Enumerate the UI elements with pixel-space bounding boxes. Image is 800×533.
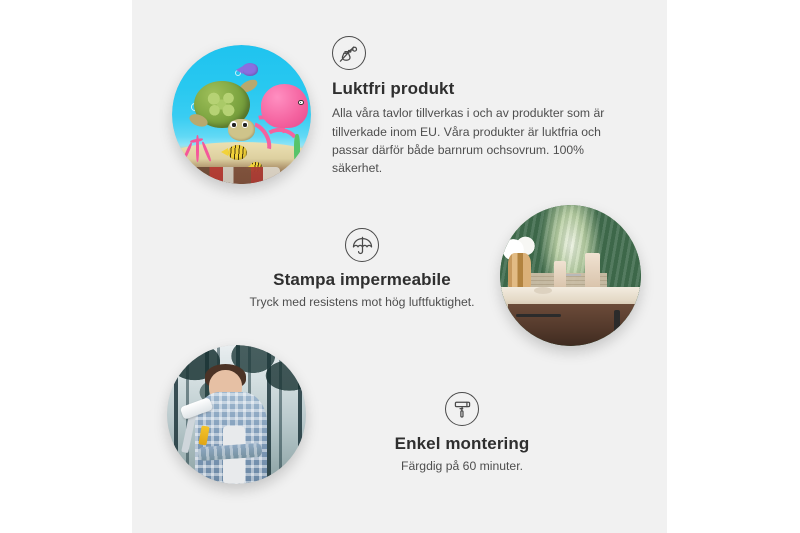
shipwreck-strip	[194, 167, 280, 184]
feature-body: Tryck med resistens mot hög luftfuktighe…	[192, 293, 532, 311]
bottle-icon	[585, 253, 601, 290]
feature-body: Alla våra tavlor tillverkas i och av pro…	[332, 104, 632, 177]
woman-with-paint-roller-photo	[167, 345, 306, 484]
content-panel: Luktfri produkt Alla våra tavlor tillver…	[132, 0, 667, 533]
octopus-icon	[261, 84, 308, 128]
feature-waterproof: Stampa impermeabile Tryck med resistens …	[192, 228, 532, 312]
seaweed-icon	[294, 134, 300, 165]
octopus-eye	[298, 100, 304, 106]
feature-title: Stampa impermeabile	[192, 269, 532, 290]
feature-title: Enkel montering	[312, 433, 612, 454]
fish-icon	[242, 63, 259, 76]
umbrella-icon	[345, 228, 379, 262]
soap-dish-icon	[534, 287, 552, 294]
bottle-icon	[554, 261, 567, 289]
no-fragrance-icon	[332, 36, 366, 70]
feature-body: Färgdig på 60 minuter.	[312, 457, 612, 475]
painter-photo-inner	[167, 345, 306, 484]
feature-odourless: Luktfri produkt Alla våra tavlor tillver…	[332, 36, 632, 177]
underwater-photo-inner	[172, 45, 311, 184]
coral-icon	[180, 131, 216, 167]
page-root: Luktfri produkt Alla våra tavlor tillver…	[0, 0, 800, 533]
underwater-cartoon-mural-photo	[172, 45, 311, 184]
feature-title: Luktfri produkt	[332, 78, 632, 99]
feature-easy-mounting: Enkel montering Färgdig på 60 minuter.	[312, 392, 612, 476]
paint-roller-icon	[445, 392, 479, 426]
